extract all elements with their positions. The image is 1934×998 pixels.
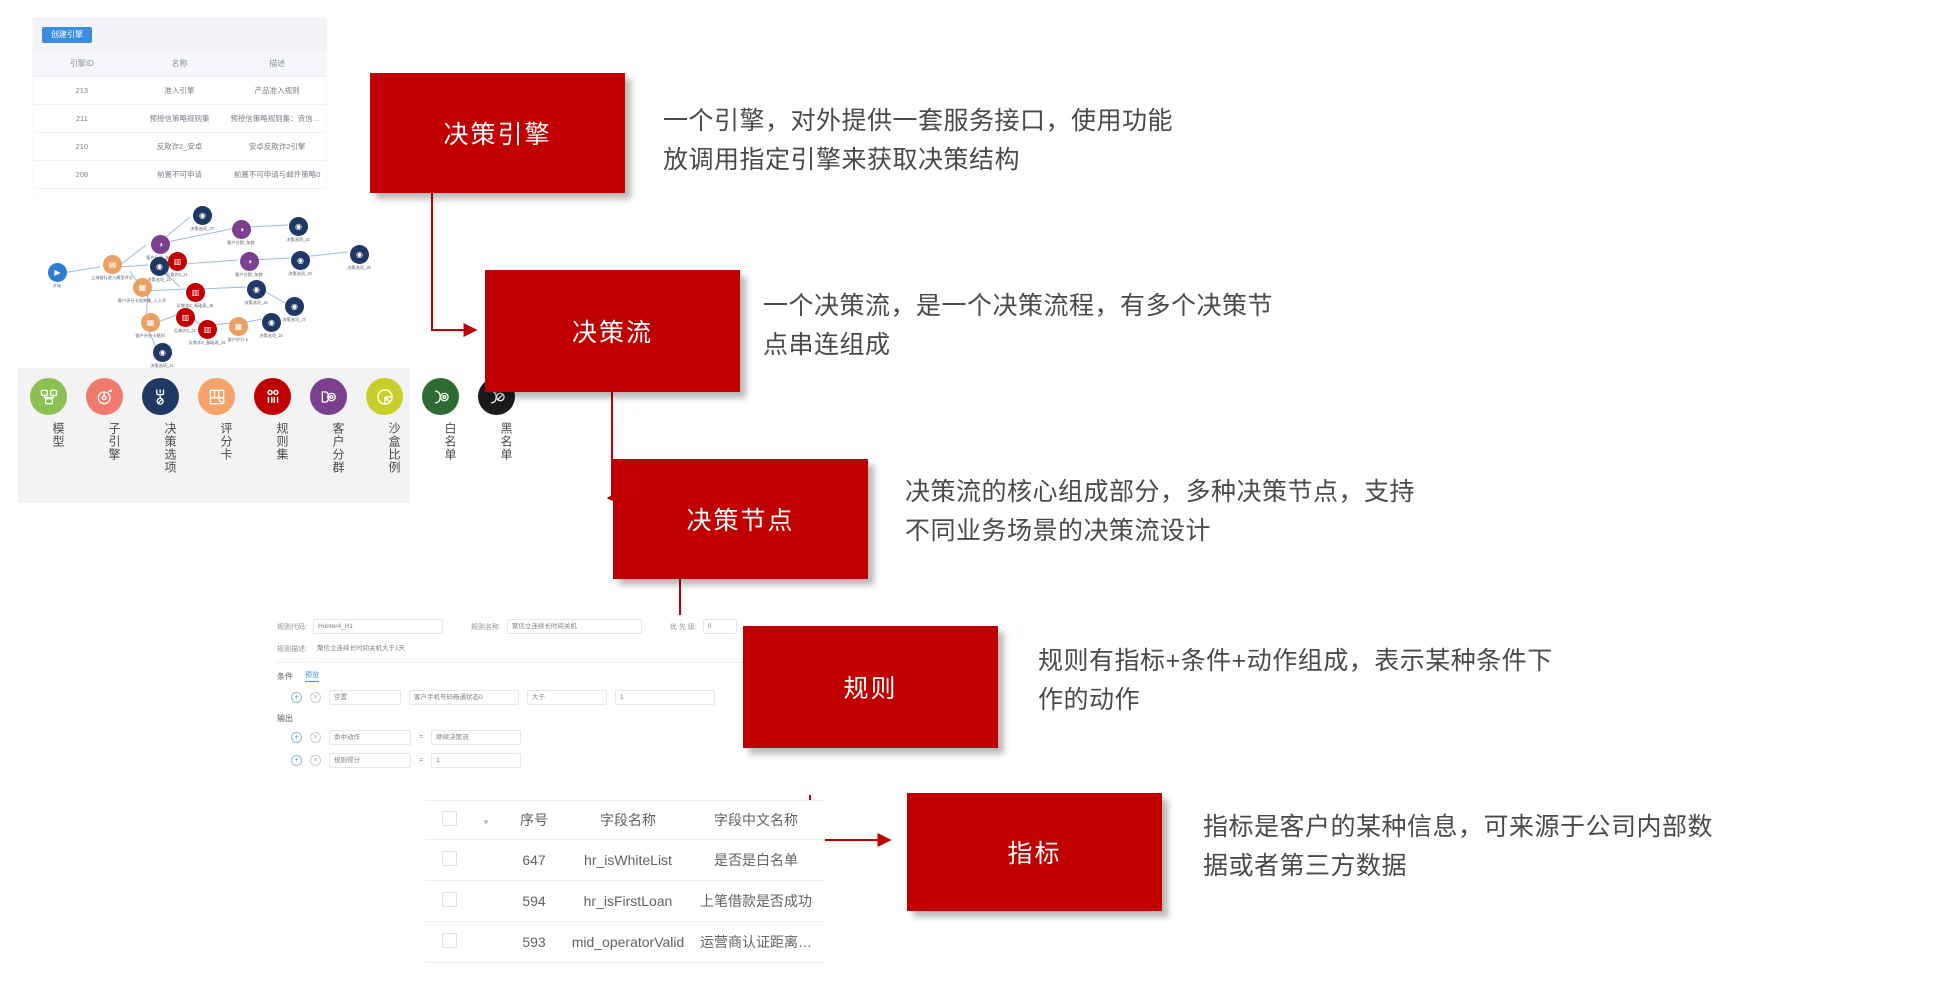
condition-value-input[interactable]: 1 [615, 690, 715, 705]
rule-priority-input[interactable]: 0 [703, 619, 737, 634]
white-list-icon[interactable] [422, 378, 459, 415]
indicator-col-field: 字段名称 [569, 801, 687, 840]
decision-option-icon[interactable] [142, 378, 179, 415]
output-title: 输出 [265, 709, 825, 726]
node-icon-label: 白名单 [422, 422, 459, 492]
row-checkbox-cell [425, 881, 473, 922]
flow-node-label: 反欺诈2_J1 [166, 272, 188, 278]
engine-id: 211 [33, 105, 131, 133]
node-icon-label: 评分卡 [198, 422, 235, 492]
callout-decision-engine[interactable]: 决策引擎 [370, 73, 625, 193]
output-operator: = [419, 734, 423, 741]
table-row[interactable]: 210 反欺诈2_安卓 安卓反欺诈2引擎 [33, 133, 326, 161]
callout-decision-node[interactable]: 决策节点 [613, 459, 868, 579]
flow-node[interactable]: ◉ [285, 297, 304, 316]
checkbox-icon[interactable] [442, 851, 457, 866]
callout-description-decision-flow: 一个决策流，是一个决策流程，有多个决策节 点串连组成 [763, 287, 1453, 365]
flow-node-label: 决策选项_J7 [190, 226, 214, 232]
node-icon-label: 决策选项 [142, 422, 179, 492]
flow-node-label: 开始 [53, 283, 61, 289]
table-row[interactable]: 213 准入引擎 产品准入规则 [33, 77, 326, 105]
checkbox-icon[interactable] [442, 933, 457, 948]
flow-node-label: 客户评分卡规则集_人人开 [118, 298, 166, 304]
flow-node-label: 客户评分卡 [228, 337, 249, 343]
indicator-cn: 运营商认证距离… [687, 922, 825, 963]
decision-flow-screenshot: ▶ 开始 ◉决策选项_J7◑客户分群_年龄◑客户分群_年龄◉决策选项_J2▤上海… [40, 195, 390, 370]
plus-circle-icon[interactable]: + [291, 732, 302, 743]
filter-cell[interactable]: ▼ [473, 801, 499, 840]
output-row: + × 命中动作 = 继续决策流 [265, 726, 825, 749]
rule-desc-label: 规则描述: [277, 644, 307, 654]
callout-description-rule: 规则有指标+条件+动作组成，表示某种条件下 作的动作 [1038, 642, 1728, 720]
row-checkbox-cell [425, 922, 473, 963]
flow-node[interactable]: ▦ [229, 317, 248, 336]
flow-node[interactable]: ◉ [262, 313, 281, 332]
indicator-field: hr_isWhiteList [569, 840, 687, 881]
callout-title: 规则 [843, 669, 897, 705]
node-icon-label: 模型 [30, 422, 67, 492]
condition-operator-select[interactable]: 大于 [527, 690, 607, 705]
output-field-select[interactable]: 命中动作 [329, 730, 411, 745]
indicator-header-row: ▼ 序号 字段名称 字段中文名称 [425, 801, 825, 840]
indicator-col-cn: 字段中文名称 [687, 801, 825, 840]
row-spacer [473, 922, 499, 963]
flow-node[interactable]: ▥ [198, 320, 217, 339]
indicator-id: 593 [499, 922, 569, 963]
row-checkbox-cell [425, 840, 473, 881]
table-row[interactable]: 594 hr_isFirstLoan 上笔借款是否成功 [425, 881, 825, 922]
rule-code-input[interactable]: Hunter4_H1 [313, 619, 443, 634]
flow-node-label: 决策选项_J2 [286, 237, 310, 243]
select-all-cell [425, 801, 473, 840]
engine-col-desc: 描述 [228, 51, 326, 77]
engine-table-header-row: 引擎ID 名称 描述 [33, 51, 326, 77]
indicator-id: 594 [499, 881, 569, 922]
indicator-cn: 是否是白名单 [687, 840, 825, 881]
rule-name-input[interactable]: 聚信立连续长时间关机 [507, 619, 642, 634]
flow-node[interactable]: ◑ [151, 235, 170, 254]
checkbox-icon[interactable] [442, 892, 457, 907]
flow-node-label: 决策选项_J4 [244, 300, 268, 306]
preview-link[interactable]: 预览 [305, 670, 319, 682]
divider [277, 662, 813, 663]
indicator-table-screenshot: ▼ 序号 字段名称 字段中文名称 647 hr_isWhiteList 是否是白… [425, 800, 825, 965]
flow-node[interactable]: ▦ [133, 278, 152, 297]
flow-node[interactable]: ◑ [240, 252, 259, 271]
callout-title: 决策节点 [686, 501, 794, 537]
rule-name-label: 规则名称: [471, 622, 501, 632]
table-row[interactable]: 211 预授信策略规则集 预授信策略规则集：资信查询节 [33, 105, 326, 133]
output-row: + × 规则得分 = 1 [265, 749, 825, 772]
rule-code-label: 规则代码: [277, 622, 307, 632]
rule-desc-row: 规则描述: 聚信立连续长时间关机大于1天 [265, 638, 825, 659]
scorecard-icon[interactable] [198, 378, 235, 415]
engine-name: 前置不可申请 [131, 161, 229, 189]
flow-node-label: 客户分群_年龄 [235, 272, 262, 278]
rule-priority-label: 优 先 级: [670, 622, 697, 632]
output-value-input[interactable]: 1 [431, 753, 521, 768]
output-field-select[interactable]: 规则得分 [329, 753, 411, 768]
flow-node-label: 决策选项_J3 [288, 271, 312, 277]
flow-node-label: 客户分群_年龄 [227, 240, 254, 246]
slide-canvas: 创建引擎 引擎ID 名称 描述 213 准入引擎 产品准入规则 211 预授信策… [0, 0, 1934, 998]
flow-node-label: 决策选项_J3 [259, 333, 283, 339]
flow-node[interactable]: ◉ [247, 280, 266, 299]
node-icon-row [30, 378, 515, 415]
condition-section-header: 条件 预览 [265, 666, 825, 686]
engine-table: 引擎ID 名称 描述 213 准入引擎 产品准入规则 211 预授信策略规则集 … [33, 51, 326, 195]
callout-description-decision-engine: 一个引擎，对外提供一套服务接口，使用功能 放调用指定引擎来获取决策结构 [663, 102, 1353, 180]
flow-node[interactable]: ◉ [350, 245, 369, 264]
condition-row: + × 空置 客户手机号码畅通状态0 大于 1 [265, 686, 825, 709]
node-icon-label: 子引擎 [86, 422, 123, 492]
flow-node-label: 上海银行准入模型评分 [91, 275, 133, 281]
callout-title: 决策引擎 [443, 115, 551, 151]
create-engine-button[interactable]: 创建引擎 [42, 27, 92, 43]
caret-down-icon[interactable]: ▼ [482, 818, 490, 827]
condition-logic-select[interactable]: 空置 [329, 690, 401, 705]
flow-node[interactable]: ▥ [168, 252, 187, 271]
engine-list-screenshot: 创建引擎 引擎ID 名称 描述 213 准入引擎 产品准入规则 211 预授信策… [33, 18, 326, 195]
flow-node[interactable]: ▥ [186, 283, 205, 302]
table-row[interactable]: 593 mid_operatorValid 运营商认证距离… [425, 922, 825, 963]
engine-desc: 产品准入规则 [228, 77, 326, 105]
flow-node[interactable]: ◉ [289, 217, 308, 236]
engine-desc: 预授信策略规则集：资信查询节 [228, 105, 326, 133]
flow-node[interactable]: ◑ [232, 220, 251, 239]
indicator-col-id: 序号 [499, 801, 569, 840]
close-circle-icon[interactable]: × [310, 732, 321, 743]
node-icon-label: 沙盒比例 [366, 422, 403, 492]
flow-node-label: 反欺诈2_J1 [174, 328, 196, 334]
flow-node[interactable]: ▤ [103, 255, 122, 274]
close-circle-icon[interactable]: × [310, 692, 321, 703]
callout-title: 指标 [1007, 834, 1061, 870]
flow-node-label: 决策选项_J7 [282, 317, 306, 323]
engine-col-name: 名称 [131, 51, 229, 77]
engine-name: 准入引擎 [131, 77, 229, 105]
engine-desc: 前置不可申请与邮件策略0 [228, 161, 326, 189]
indicator-id: 647 [499, 840, 569, 881]
table-row[interactable]: 208 前置不可申请 前置不可申请与邮件策略0 [33, 161, 326, 189]
plus-circle-icon[interactable]: + [291, 692, 302, 703]
callout-description-decision-node: 决策流的核心组成部分，多种决策节点，支持 不同业务场景的决策流设计 [905, 473, 1595, 551]
rule-desc-input[interactable]: 聚信立连续长时间关机大于1天 [313, 642, 741, 655]
table-row[interactable]: 647 hr_isWhiteList 是否是白名单 [425, 840, 825, 881]
callout-description-indicator: 指标是客户的某种信息，可来源于公司内部数 据或者第三方数据 [1203, 808, 1893, 886]
node-icon-label: 客户分群 [310, 422, 347, 492]
indicator-table: ▼ 序号 字段名称 字段中文名称 647 hr_isWhiteList 是否是白… [425, 800, 825, 963]
output-operator: = [419, 757, 423, 764]
sub-engine-icon[interactable] [86, 378, 123, 415]
engine-id: 210 [33, 133, 131, 161]
engine-name: 预授信策略规则集 [131, 105, 229, 133]
flow-node-start[interactable]: ▶ [48, 263, 67, 282]
callout-decision-flow[interactable]: 决策流 [485, 270, 740, 392]
condition-indicator-select[interactable]: 客户手机号码畅通状态0 [409, 690, 519, 705]
close-circle-icon[interactable]: × [310, 755, 321, 766]
flow-node[interactable]: ▥ [176, 308, 195, 327]
indicator-field: mid_operatorValid [569, 922, 687, 963]
callout-indicator[interactable]: 指标 [907, 793, 1162, 911]
checkbox-icon[interactable] [442, 811, 457, 826]
sandbox-ratio-icon[interactable] [366, 378, 403, 415]
row-spacer [473, 840, 499, 881]
node-icon-label: 规则集 [254, 422, 291, 492]
engine-toolbar: 创建引擎 [33, 18, 326, 51]
plus-circle-icon[interactable]: + [291, 755, 302, 766]
flow-node[interactable]: ◉ [291, 251, 310, 270]
callout-rule[interactable]: 规则 [743, 626, 998, 748]
node-type-icons-screenshot: 模型 子引擎 决策选项 评分卡 规则集 客户分群 沙盒比例 白名单 黑名单 [18, 368, 410, 503]
flow-node-label: 反欺诈2_基础表_J4 [189, 340, 226, 346]
callout-title: 决策流 [572, 313, 653, 349]
condition-title: 条件 [277, 671, 293, 682]
flow-node[interactable]: ◉ [193, 206, 212, 225]
rule-meta-row: 规则代码: Hunter4_H1 规则名称: 聚信立连续长时间关机 优 先 级:… [265, 615, 825, 638]
node-icon-labels: 模型 子引擎 决策选项 评分卡 规则集 客户分群 沙盒比例 白名单 黑名单 [30, 422, 515, 492]
output-value-select[interactable]: 继续决策流 [431, 730, 521, 745]
engine-desc: 安卓反欺诈2引擎 [228, 133, 326, 161]
row-spacer [473, 881, 499, 922]
flow-node[interactable]: ▦ [141, 313, 160, 332]
model-icon[interactable] [30, 378, 67, 415]
indicator-cn: 上笔借款是否成功 [687, 881, 825, 922]
engine-name: 反欺诈2_安卓 [131, 133, 229, 161]
engine-id: 213 [33, 77, 131, 105]
rule-set-icon[interactable] [254, 378, 291, 415]
flow-node[interactable]: ◉ [153, 343, 172, 362]
node-icon-label: 黑名单 [478, 422, 515, 492]
engine-col-id: 引擎ID [33, 51, 131, 77]
indicator-field: hr_isFirstLoan [569, 881, 687, 922]
rule-editor-screenshot: 规则代码: Hunter4_H1 规则名称: 聚信立连续长时间关机 优 先 级:… [265, 615, 825, 795]
flow-node-label: 决策选项_J5 [347, 265, 371, 271]
flow-node-label: 客户评分卡规则 [135, 333, 164, 339]
engine-id: 208 [33, 161, 131, 189]
customer-group-icon[interactable] [310, 378, 347, 415]
